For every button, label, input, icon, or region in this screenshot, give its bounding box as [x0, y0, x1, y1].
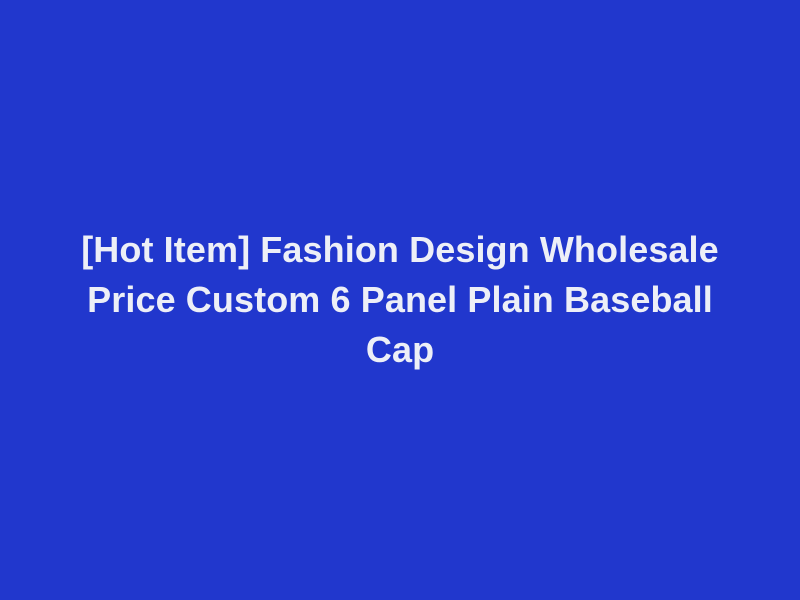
product-title: [Hot Item] Fashion Design Wholesale Pric… — [60, 225, 740, 375]
title-block: [Hot Item] Fashion Design Wholesale Pric… — [50, 225, 750, 375]
image-placeholder-canvas: [Hot Item] Fashion Design Wholesale Pric… — [0, 0, 800, 600]
